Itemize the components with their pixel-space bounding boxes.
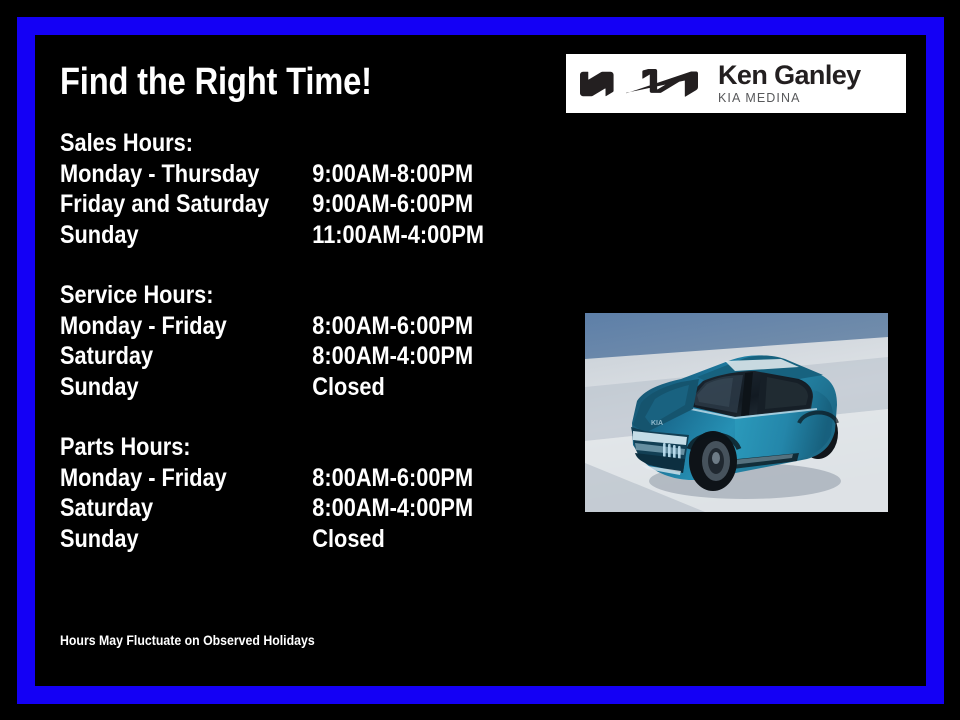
table-row: Monday - Friday8:00AM-6:00PM [60, 311, 478, 342]
service-hours-heading: Service Hours: [60, 280, 478, 311]
slide-content: Find the Right Time! Sales Hours: Monday… [0, 0, 960, 720]
table-row: Sunday11:00AM-4:00PM [60, 220, 478, 251]
day-label: Sunday [60, 220, 312, 251]
day-label: Monday - Thursday [60, 159, 312, 190]
parts-hours-heading: Parts Hours: [60, 432, 478, 463]
hours-group-sales: Sales Hours: Monday - Thursday9:00AM-8:0… [60, 128, 540, 250]
time-label: 8:00AM-6:00PM [312, 463, 473, 494]
day-label: Saturday [60, 341, 312, 372]
time-label: Closed [312, 524, 385, 555]
time-label: 9:00AM-6:00PM [312, 189, 473, 220]
kia-logo-icon [580, 69, 698, 99]
time-label: 8:00AM-4:00PM [312, 341, 473, 372]
vehicle-photo: KIA [585, 313, 888, 512]
day-label: Sunday [60, 524, 312, 555]
dealer-name: Ken Ganley [718, 61, 861, 89]
hours-sections: Sales Hours: Monday - Thursday9:00AM-8:0… [60, 128, 540, 554]
dealer-name-block: Ken Ganley KIA MEDINA [718, 61, 861, 106]
time-label: Closed [312, 372, 385, 403]
vehicle-badge: KIA [651, 420, 663, 427]
dealer-location: KIA MEDINA [718, 91, 861, 106]
table-row: SundayClosed [60, 524, 478, 555]
time-label: 8:00AM-4:00PM [312, 493, 473, 524]
table-row: Friday and Saturday9:00AM-6:00PM [60, 189, 478, 220]
table-row: Saturday8:00AM-4:00PM [60, 341, 478, 372]
dealer-logo-banner: Ken Ganley KIA MEDINA [566, 54, 906, 113]
time-label: 8:00AM-6:00PM [312, 311, 473, 342]
sales-hours-heading: Sales Hours: [60, 128, 478, 159]
day-label: Monday - Friday [60, 311, 312, 342]
vehicle-photo-illustration: KIA [585, 313, 888, 512]
slide-canvas: Find the Right Time! Sales Hours: Monday… [0, 0, 960, 720]
table-row: SundayClosed [60, 372, 478, 403]
table-row: Saturday8:00AM-4:00PM [60, 493, 478, 524]
day-label: Sunday [60, 372, 312, 403]
time-label: 11:00AM-4:00PM [312, 220, 484, 251]
day-label: Friday and Saturday [60, 189, 312, 220]
day-label: Monday - Friday [60, 463, 312, 494]
table-row: Monday - Thursday9:00AM-8:00PM [60, 159, 478, 190]
hours-group-parts: Parts Hours: Monday - Friday8:00AM-6:00P… [60, 432, 540, 554]
hours-group-service: Service Hours: Monday - Friday8:00AM-6:0… [60, 280, 540, 402]
day-label: Saturday [60, 493, 312, 524]
holiday-disclaimer: Hours May Fluctuate on Observed Holidays [60, 631, 315, 649]
table-row: Monday - Friday8:00AM-6:00PM [60, 463, 478, 494]
page-title: Find the Right Time! [60, 62, 372, 102]
time-label: 9:00AM-8:00PM [312, 159, 473, 190]
